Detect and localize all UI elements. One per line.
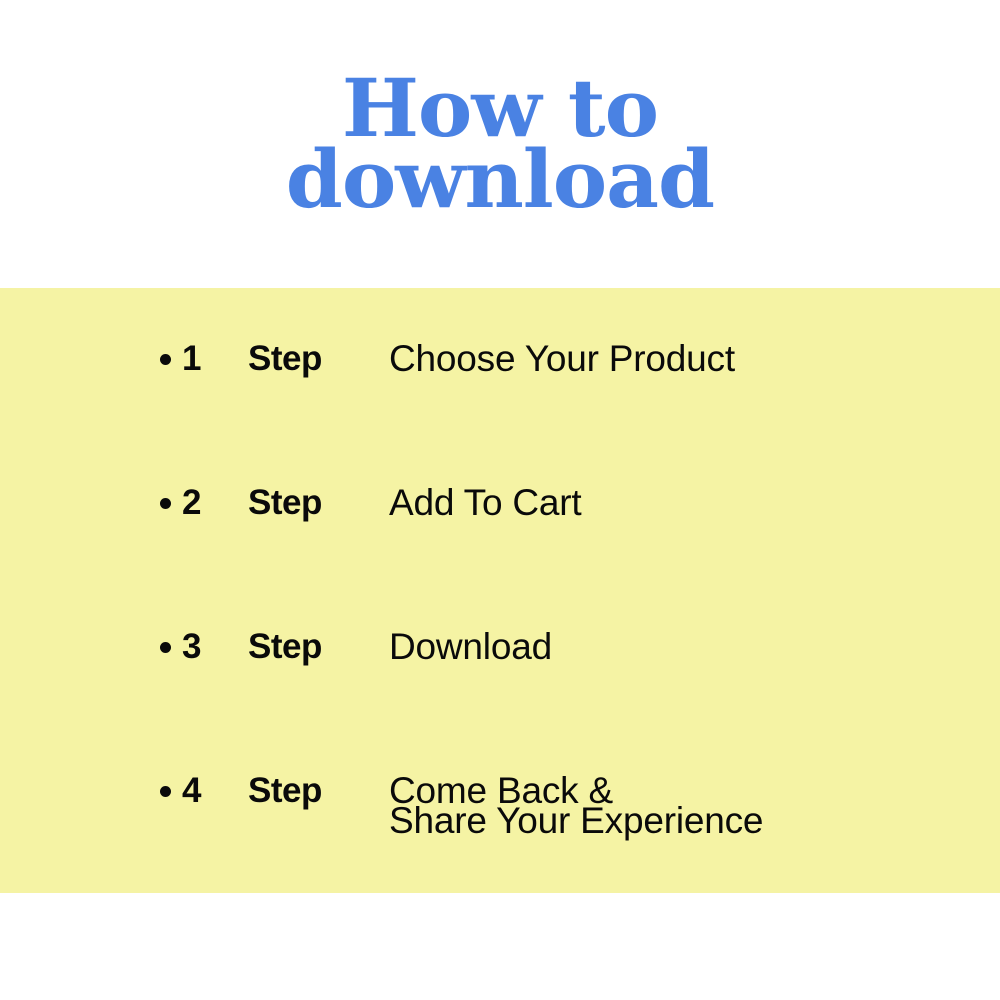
step-description: Choose Your Product — [389, 340, 960, 374]
step-description-line-1: Add To Cart — [389, 488, 960, 518]
steps-list: 1 Step Choose Your Product 2 Step Add To… — [0, 288, 1000, 893]
step-label: Step — [248, 628, 389, 666]
step-description-line-1: Choose Your Product — [389, 344, 960, 374]
list-item: 3 Step Download — [160, 628, 960, 666]
step-number: 4 — [182, 772, 248, 810]
bullet-icon — [160, 484, 182, 522]
step-description-line-2: Share Your Experience — [389, 806, 960, 836]
footer-section — [0, 893, 1000, 1000]
bullet-icon — [160, 340, 182, 378]
list-item: 2 Step Add To Cart — [160, 484, 960, 522]
list-item: 1 Step Choose Your Product — [160, 340, 960, 378]
list-item: 4 Step Come Back & Share Your Experience — [160, 772, 960, 836]
step-number: 2 — [182, 484, 248, 522]
poster-canvas: How to download 1 Step Choose Your Produ… — [0, 0, 1000, 1000]
steps-band: 1 Step Choose Your Product 2 Step Add To… — [0, 288, 1000, 893]
bullet-icon — [160, 628, 182, 666]
step-label: Step — [248, 772, 389, 810]
step-number: 3 — [182, 628, 248, 666]
title-line-download: download — [286, 145, 714, 214]
header-section: How to download — [0, 0, 1000, 288]
step-label: Step — [248, 484, 389, 522]
step-number: 1 — [182, 340, 248, 378]
step-description-line-1: Download — [389, 632, 960, 662]
step-description: Come Back & Share Your Experience — [389, 772, 960, 836]
step-description: Add To Cart — [389, 484, 960, 518]
page-title: How to download — [290, 74, 710, 214]
bullet-icon — [160, 772, 182, 810]
step-label: Step — [248, 340, 389, 378]
step-description: Download — [389, 628, 960, 662]
